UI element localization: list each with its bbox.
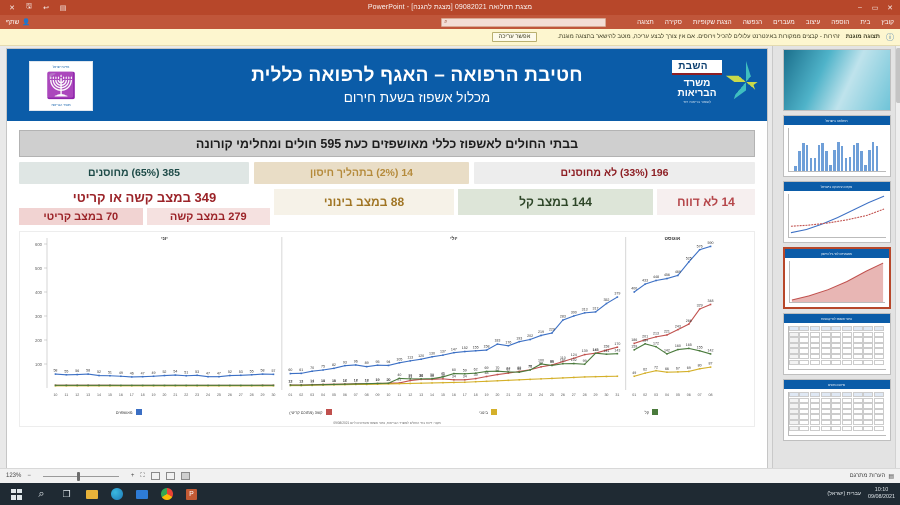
clock-time: 10:10 (875, 487, 889, 493)
svg-text:22: 22 (184, 393, 188, 397)
thumbnail-chart (788, 392, 886, 436)
svg-text:14: 14 (97, 393, 101, 397)
svg-text:59: 59 (463, 368, 467, 372)
thumbnail-chart (788, 194, 886, 238)
svg-text:124: 124 (571, 353, 577, 357)
svg-text:07: 07 (698, 393, 702, 397)
svg-text:142: 142 (664, 349, 670, 353)
svg-text:317: 317 (593, 307, 599, 311)
svg-text:אוגוסט: אוגוסט (665, 236, 681, 242)
svg-text:49: 49 (119, 371, 123, 375)
svg-text:448: 448 (653, 275, 659, 279)
svg-text:31: 31 (615, 393, 619, 397)
thumbnail-scrollbar[interactable] (895, 46, 900, 468)
thumbnail-body (784, 323, 890, 374)
svg-text:19: 19 (376, 378, 380, 382)
enable-editing-button[interactable]: אפשר עריכה (492, 32, 538, 42)
svg-text:15: 15 (108, 393, 112, 397)
emblem-top-text: מדינת ישראל (53, 65, 70, 69)
svg-text:57: 57 (271, 369, 275, 373)
reading-view-icon[interactable] (151, 472, 160, 480)
menorah-icon: 🕎 (45, 74, 76, 99)
svg-text:14: 14 (321, 379, 325, 383)
svg-text:03: 03 (654, 393, 658, 397)
svg-text:469: 469 (675, 270, 681, 274)
svg-text:28: 28 (583, 393, 587, 397)
thumbnail-body (784, 125, 890, 176)
svg-text:113: 113 (407, 355, 413, 359)
svg-text:03: 03 (310, 393, 314, 397)
svg-text:04: 04 (321, 393, 325, 397)
svg-text:600: 600 (35, 242, 43, 247)
svg-text:160: 160 (675, 344, 681, 348)
svg-text:352: 352 (603, 298, 609, 302)
svg-text:200: 200 (35, 338, 43, 343)
svg-text:10: 10 (53, 393, 57, 397)
notes-button[interactable]: ▤ הערות מתרגם (850, 473, 894, 480)
svg-text:18: 18 (141, 393, 145, 397)
title-bar: ✕ 🖫 ↩ ▤ מצגת תחלואה 09082021 [מצגת להגנה… (0, 0, 900, 15)
svg-text:25: 25 (217, 393, 221, 397)
svg-text:22: 22 (517, 393, 521, 397)
svg-text:55: 55 (64, 369, 68, 373)
svg-text:313: 313 (582, 307, 588, 311)
legend-label-severe: קשה (מתוכם קריטי) (289, 410, 322, 415)
svg-text:55: 55 (250, 369, 254, 373)
close-window-icon[interactable]: ✕ (886, 4, 894, 12)
legend-label-light: קל (645, 410, 649, 415)
svg-text:141: 141 (603, 349, 609, 353)
mail-icon[interactable] (130, 483, 153, 505)
svg-text:53: 53 (239, 370, 243, 374)
svg-text:400: 400 (35, 290, 43, 295)
svg-text:10: 10 (386, 393, 390, 397)
svg-text:213: 213 (653, 331, 659, 335)
svg-text:30: 30 (604, 393, 608, 397)
slide-thumbnail[interactable]: 2תחלואה בישראל (783, 115, 891, 177)
svg-text:120: 120 (418, 354, 424, 358)
svg-text:379: 379 (614, 292, 620, 296)
thumbnail-title: מקדם ההדבקה בישראל (784, 182, 890, 191)
svg-text:14: 14 (430, 393, 434, 397)
thumbnail-body (785, 258, 889, 307)
svg-text:11: 11 (397, 393, 401, 397)
svg-text:159: 159 (631, 344, 637, 348)
unvaccinated-box: 196 (33%) לא מחוסנים (474, 162, 755, 184)
svg-text:26: 26 (228, 393, 232, 397)
svg-text:06: 06 (343, 393, 347, 397)
svg-text:17: 17 (463, 393, 467, 397)
svg-text:34: 34 (463, 374, 467, 378)
svg-text:176: 176 (505, 340, 511, 344)
chart-plot-area: 100200300400500600יונייוליאוגוסט10111213… (20, 232, 720, 410)
slide-header-band: השבת משרד הבריאות לשמור בריאות יחד חטיבת… (7, 49, 767, 121)
svg-text:09: 09 (376, 393, 380, 397)
legend-item-light: קל (645, 409, 658, 415)
svg-text:38: 38 (419, 373, 423, 377)
window-controls: ‒ ▭ ✕ (856, 4, 900, 12)
svg-text:58: 58 (53, 369, 57, 373)
svg-text:39: 39 (430, 373, 434, 377)
menu-item-8[interactable]: תצוגה (637, 19, 654, 26)
severe-condition-box: 279 במצב קשה (147, 208, 271, 225)
svg-text:49: 49 (152, 371, 156, 375)
logo-star-icon (725, 61, 767, 103)
slide-thumbnail-panel[interactable]: 12תחלואה בישראל3מקדם ההדבקה בישראל4מאומת… (772, 46, 900, 468)
svg-text:52: 52 (228, 370, 232, 374)
svg-text:07: 07 (354, 393, 358, 397)
system-tray: 10:10 09/08/2021 עברית (ישראל) (823, 487, 895, 501)
svg-text:26: 26 (561, 393, 565, 397)
svg-text:61: 61 (299, 368, 303, 372)
svg-text:66: 66 (517, 367, 521, 371)
svg-text:05: 05 (676, 393, 680, 397)
svg-text:89: 89 (365, 361, 369, 365)
svg-text:184: 184 (642, 338, 648, 342)
workspace: השבת משרד הבריאות לשמור בריאות יחד חטיבת… (0, 46, 900, 468)
legend-label-hospitalized: מאושפזים (116, 410, 133, 415)
svg-text:186: 186 (631, 338, 637, 342)
svg-text:04: 04 (665, 393, 669, 397)
svg-text:143: 143 (614, 348, 620, 352)
svg-text:13: 13 (310, 379, 314, 383)
svg-text:93: 93 (343, 360, 347, 364)
severe-critical-split: 279 במצב קשה 70 במצב קריטי (19, 208, 270, 225)
svg-text:56: 56 (75, 369, 79, 373)
restore-icon[interactable]: ▭ (871, 4, 879, 12)
svg-text:100: 100 (35, 362, 43, 367)
sorter-view-icon[interactable] (166, 472, 175, 480)
window-title: מצגת תחלואה 09082021 [מצגת להגנה] - Powe… (0, 4, 900, 11)
hospitalization-chart: 100200300400500600יונייוליאוגוסט10111213… (19, 231, 755, 427)
info-icon: ⓘ (886, 32, 894, 43)
powerpoint-icon[interactable]: P (180, 483, 203, 505)
svg-text:183: 183 (494, 339, 500, 343)
person-icon: 👤 (22, 18, 30, 26)
legend-swatch-hospitalized (136, 409, 142, 415)
critical-condition-box: 70 במצב קריטי (19, 208, 143, 225)
slide-thumbnail[interactable]: 1 (783, 49, 891, 111)
svg-text:12: 12 (299, 380, 303, 384)
legend-swatch-severe (326, 409, 332, 415)
legend-swatch-moderate (491, 409, 497, 415)
ministry-of-health-logo: השבת משרד הבריאות לשמור בריאות יחד (641, 48, 753, 119)
svg-text:69: 69 (485, 366, 489, 370)
svg-text:19: 19 (152, 393, 156, 397)
svg-text:62: 62 (474, 368, 478, 372)
search-icon[interactable]: ⌕ (30, 483, 53, 505)
svg-text:49: 49 (632, 371, 636, 375)
svg-text:60: 60 (288, 368, 292, 372)
slide-thumbnail[interactable]: 3מקדם ההדבקה בישראל (783, 181, 891, 243)
svg-text:51: 51 (184, 370, 188, 374)
logo-shabat-text: השבת (672, 60, 722, 75)
normal-view-icon[interactable] (181, 472, 190, 480)
view-controls: ⛶ + − 123% (6, 472, 190, 481)
svg-text:15: 15 (441, 393, 445, 397)
menu-item-6[interactable]: הצגת שקופיות (693, 19, 732, 26)
svg-text:27: 27 (572, 393, 576, 397)
slide-title-block: חטיבת הרפואה – האגף לרפואה כללית מכלול א… (191, 65, 583, 105)
logo-ministry-sub: לשמור בריאות יחד (683, 100, 711, 104)
share-label: שתף (6, 19, 19, 26)
notes-label: הערות מתרגם (850, 473, 886, 479)
svg-text:99: 99 (583, 359, 587, 363)
svg-text:16: 16 (119, 393, 123, 397)
svg-text:142: 142 (708, 349, 714, 353)
svg-text:130: 130 (429, 351, 435, 355)
svg-text:27: 27 (239, 393, 243, 397)
hospitalized-summary-bar: בבתי החולים לאשפוז כללי מאושפזים כעת 595… (19, 130, 755, 157)
svg-text:80: 80 (698, 363, 702, 367)
svg-text:12: 12 (75, 393, 79, 397)
legend-swatch-light (652, 409, 658, 415)
svg-text:29: 29 (261, 393, 265, 397)
svg-text:02: 02 (299, 393, 303, 397)
svg-text:20: 20 (495, 393, 499, 397)
thumbnail-scrollbar-thumb[interactable] (896, 48, 900, 103)
tell-me-search-input[interactable]: ⌕ (441, 18, 606, 27)
svg-text:20: 20 (386, 378, 390, 382)
svg-text:38: 38 (408, 373, 412, 377)
svg-text:400: 400 (631, 287, 637, 291)
emblem-bottom-text: משרד הבריאות (51, 103, 70, 107)
zoom-level-label[interactable]: 123% (6, 473, 21, 479)
svg-text:34: 34 (452, 374, 456, 378)
thumbnail-cover-image (784, 50, 890, 110)
chrome-icon[interactable] (155, 483, 178, 505)
svg-text:172: 172 (653, 341, 659, 345)
svg-text:23: 23 (528, 393, 532, 397)
zoom-in-icon[interactable]: + (131, 473, 135, 479)
files-icon[interactable] (80, 483, 103, 505)
minimize-icon[interactable]: ‒ (856, 4, 864, 12)
svg-text:30: 30 (271, 393, 275, 397)
slide-thumbnail[interactable]: 5נתוני אשפוז לפי קבוצות (783, 313, 891, 375)
svg-text:12: 12 (408, 393, 412, 397)
language-indicator[interactable]: עברית (ישראל) (827, 491, 861, 497)
svg-text:53: 53 (195, 370, 199, 374)
thumbnail-body (784, 191, 890, 242)
svg-text:75: 75 (528, 365, 532, 369)
windows-taskbar: ⌕ ❐ P 10:10 09/08/2021 עברית (ישראל) (0, 483, 900, 505)
in-vaccination-process-box: 14 (2%) בתהליך חיסון (254, 162, 469, 184)
svg-text:17: 17 (354, 379, 358, 383)
svg-text:29: 29 (594, 393, 598, 397)
zoom-slider-knob[interactable] (77, 472, 80, 481)
svg-text:02: 02 (643, 393, 647, 397)
svg-text:100: 100 (538, 359, 544, 363)
slide-subtitle: מכלול אשפוז בשעת חירום (251, 90, 583, 105)
vaccination-status-row: 196 (33%) לא מחוסנים 14 (2%) בתהליך חיסו… (19, 162, 755, 184)
svg-text:70: 70 (495, 366, 499, 370)
svg-text:75: 75 (321, 365, 325, 369)
menu-item-7[interactable]: סקירה (665, 19, 682, 26)
svg-text:67: 67 (676, 367, 680, 371)
svg-text:590: 590 (708, 241, 714, 245)
zoom-slider[interactable] (37, 472, 125, 481)
svg-text:58: 58 (261, 369, 265, 373)
svg-text:46: 46 (130, 372, 134, 376)
svg-text:145: 145 (593, 348, 599, 352)
svg-text:101: 101 (560, 358, 566, 362)
svg-text:54: 54 (173, 370, 177, 374)
svg-text:05: 05 (332, 393, 336, 397)
thumbnail-title: סיכום נתונים (784, 380, 890, 389)
svg-text:94: 94 (386, 360, 390, 364)
svg-text:243: 243 (675, 324, 681, 328)
svg-text:47: 47 (206, 371, 210, 375)
svg-text:52: 52 (162, 370, 166, 374)
svg-text:219: 219 (538, 330, 544, 334)
svg-text:266: 266 (686, 319, 692, 323)
svg-text:06: 06 (687, 393, 691, 397)
thumbnail-title: מאומתים לפי גיל וחיסון (785, 249, 889, 258)
svg-text:24: 24 (206, 393, 210, 397)
protected-view-text: זהירות - קבצים ממקורות באינטרנט עלולים ל… (557, 34, 839, 40)
svg-text:01: 01 (288, 393, 292, 397)
svg-text:58: 58 (86, 369, 90, 373)
share-button[interactable]: 👤 שתף (6, 18, 30, 26)
svg-text:70: 70 (310, 366, 314, 370)
slide-canvas[interactable]: השבת משרד הבריאות לשמור בריאות יחד חטיבת… (6, 48, 768, 472)
svg-text:155: 155 (697, 345, 703, 349)
svg-text:170: 170 (614, 342, 620, 346)
svg-text:152: 152 (462, 346, 468, 350)
vaccinated-box: 385 (65%) מחוסנים (19, 162, 249, 184)
svg-text:69: 69 (687, 366, 691, 370)
severe-or-critical-total: 349 במצב קשה או קריטי (19, 189, 270, 205)
thumbnail-body (784, 389, 890, 440)
svg-text:18: 18 (365, 378, 369, 382)
svg-text:12: 12 (288, 380, 292, 384)
svg-text:25: 25 (550, 393, 554, 397)
svg-text:21: 21 (173, 393, 177, 397)
svg-text:300: 300 (35, 314, 43, 319)
svg-text:525: 525 (686, 257, 692, 261)
svg-text:500: 500 (35, 266, 43, 271)
clock[interactable]: 10:10 09/08/2021 (868, 487, 895, 501)
svg-text:13: 13 (86, 393, 90, 397)
svg-text:20: 20 (162, 393, 166, 397)
svg-text:229: 229 (549, 328, 555, 332)
svg-text:348: 348 (708, 299, 714, 303)
slide-editing-area[interactable]: השבת משרד הבריאות לשמור בריאות יחד חטיבת… (0, 46, 772, 468)
light-condition-box: 144 במצב קל (458, 189, 653, 215)
not-reported-box: 14 לא דווח (657, 189, 755, 215)
svg-text:147: 147 (451, 347, 457, 351)
svg-text:95: 95 (376, 360, 380, 364)
svg-text:87: 87 (709, 362, 713, 366)
svg-text:יוני: יוני (161, 236, 168, 242)
svg-text:456: 456 (664, 273, 670, 277)
svg-text:51: 51 (108, 370, 112, 374)
menu-item-0[interactable]: קובץ (881, 19, 894, 26)
menu-bar: קובץ בית הוספה עיצוב מעברים הנפשה הצגת ש… (0, 15, 900, 29)
svg-text:82: 82 (332, 363, 336, 367)
status-bar: ▤ הערות מתרגם ⛶ + − 123% (0, 468, 900, 483)
svg-text:16: 16 (452, 393, 456, 397)
moderate-condition-box: 88 במצב בינוני (274, 189, 454, 215)
search-icon: ⌕ (444, 19, 447, 26)
thumbnail-title: תחלואה בישראל (784, 116, 890, 125)
svg-text:60: 60 (452, 368, 456, 372)
svg-text:19: 19 (485, 393, 489, 397)
svg-text:576: 576 (697, 244, 703, 248)
legend-label-moderate: בינוני (479, 410, 488, 415)
protected-view-title: תצוגה מוגנת (846, 34, 880, 40)
zoom-out-icon[interactable]: − (27, 473, 31, 479)
logo-ministry-name: משרד הבריאות (678, 79, 717, 99)
severe-critical-group: 349 במצב קשה או קריטי 279 במצב קשה 70 במ… (19, 189, 270, 225)
svg-text:28: 28 (250, 393, 254, 397)
start-icon[interactable] (5, 483, 28, 505)
menu-item-5[interactable]: הנפשה (743, 19, 762, 26)
svg-text:67: 67 (506, 367, 510, 371)
svg-text:62: 62 (643, 368, 647, 372)
svg-text:15: 15 (332, 379, 336, 383)
svg-text:40: 40 (397, 373, 401, 377)
svg-text:08: 08 (709, 393, 713, 397)
thumbnail-chart (788, 128, 886, 172)
svg-text:158: 158 (484, 345, 490, 349)
slide-title: חטיבת הרפואה – האגף לרפואה כללית (251, 65, 583, 87)
svg-text:94: 94 (550, 360, 554, 364)
svg-text:433: 433 (642, 279, 648, 283)
svg-text:47: 47 (217, 371, 221, 375)
slide-thumbnail[interactable]: 6סיכום נתונים (783, 379, 891, 441)
edge-icon[interactable] (105, 483, 128, 505)
svg-text:66: 66 (665, 367, 669, 371)
svg-text:18: 18 (474, 393, 478, 397)
menu-item-1[interactable]: בית (860, 19, 870, 26)
svg-text:105: 105 (396, 357, 402, 361)
slide-thumbnail[interactable]: 4מאומתים לפי גיל וחיסון (783, 247, 891, 309)
task-view-icon[interactable]: ❐ (55, 483, 78, 505)
clock-date: 09/08/2021 (868, 494, 895, 500)
state-emblem: מדינת ישראל 🕎 משרד הבריאות (29, 61, 93, 111)
svg-text:21: 21 (506, 393, 510, 397)
svg-text:46: 46 (441, 372, 445, 376)
legend-item-hospitalized: מאושפזים (116, 409, 142, 415)
svg-text:139: 139 (582, 349, 588, 353)
svg-text:01: 01 (632, 393, 636, 397)
svg-text:17: 17 (130, 393, 134, 397)
svg-text:72: 72 (654, 365, 658, 369)
severity-row: 14 לא דווח 144 במצב קל 88 במצב בינוני 34… (19, 189, 755, 225)
thumbnail-chart (788, 326, 886, 370)
legend-item-severe: קשה (מתוכם קריטי) (289, 409, 331, 415)
menu-item-3[interactable]: עיצוב (806, 19, 821, 26)
svg-text:102: 102 (571, 358, 577, 362)
protected-view-bar: ⓘ תצוגה מוגנת זהירות - קבצים ממקורות באי… (0, 29, 900, 46)
svg-text:52: 52 (97, 370, 101, 374)
svg-text:137: 137 (440, 350, 446, 354)
svg-text:221: 221 (664, 330, 670, 334)
svg-text:283: 283 (560, 315, 566, 319)
chart-footnote: מקור: דיווח בתי החולים למשרד הבריאות, נת… (20, 421, 754, 425)
svg-text:יולי: יולי (450, 235, 458, 242)
thumbnail-chart (789, 261, 885, 303)
svg-text:23: 23 (195, 393, 199, 397)
fit-slide-icon[interactable]: ⛶ (140, 473, 144, 480)
svg-text:202: 202 (527, 334, 533, 338)
menu-item-4[interactable]: מעברים (773, 19, 795, 26)
menu-item-2[interactable]: הוספה (831, 19, 849, 26)
svg-text:165: 165 (686, 343, 692, 347)
thumbnail-title: נתוני אשפוז לפי קבוצות (784, 314, 890, 323)
svg-text:08: 08 (365, 393, 369, 397)
